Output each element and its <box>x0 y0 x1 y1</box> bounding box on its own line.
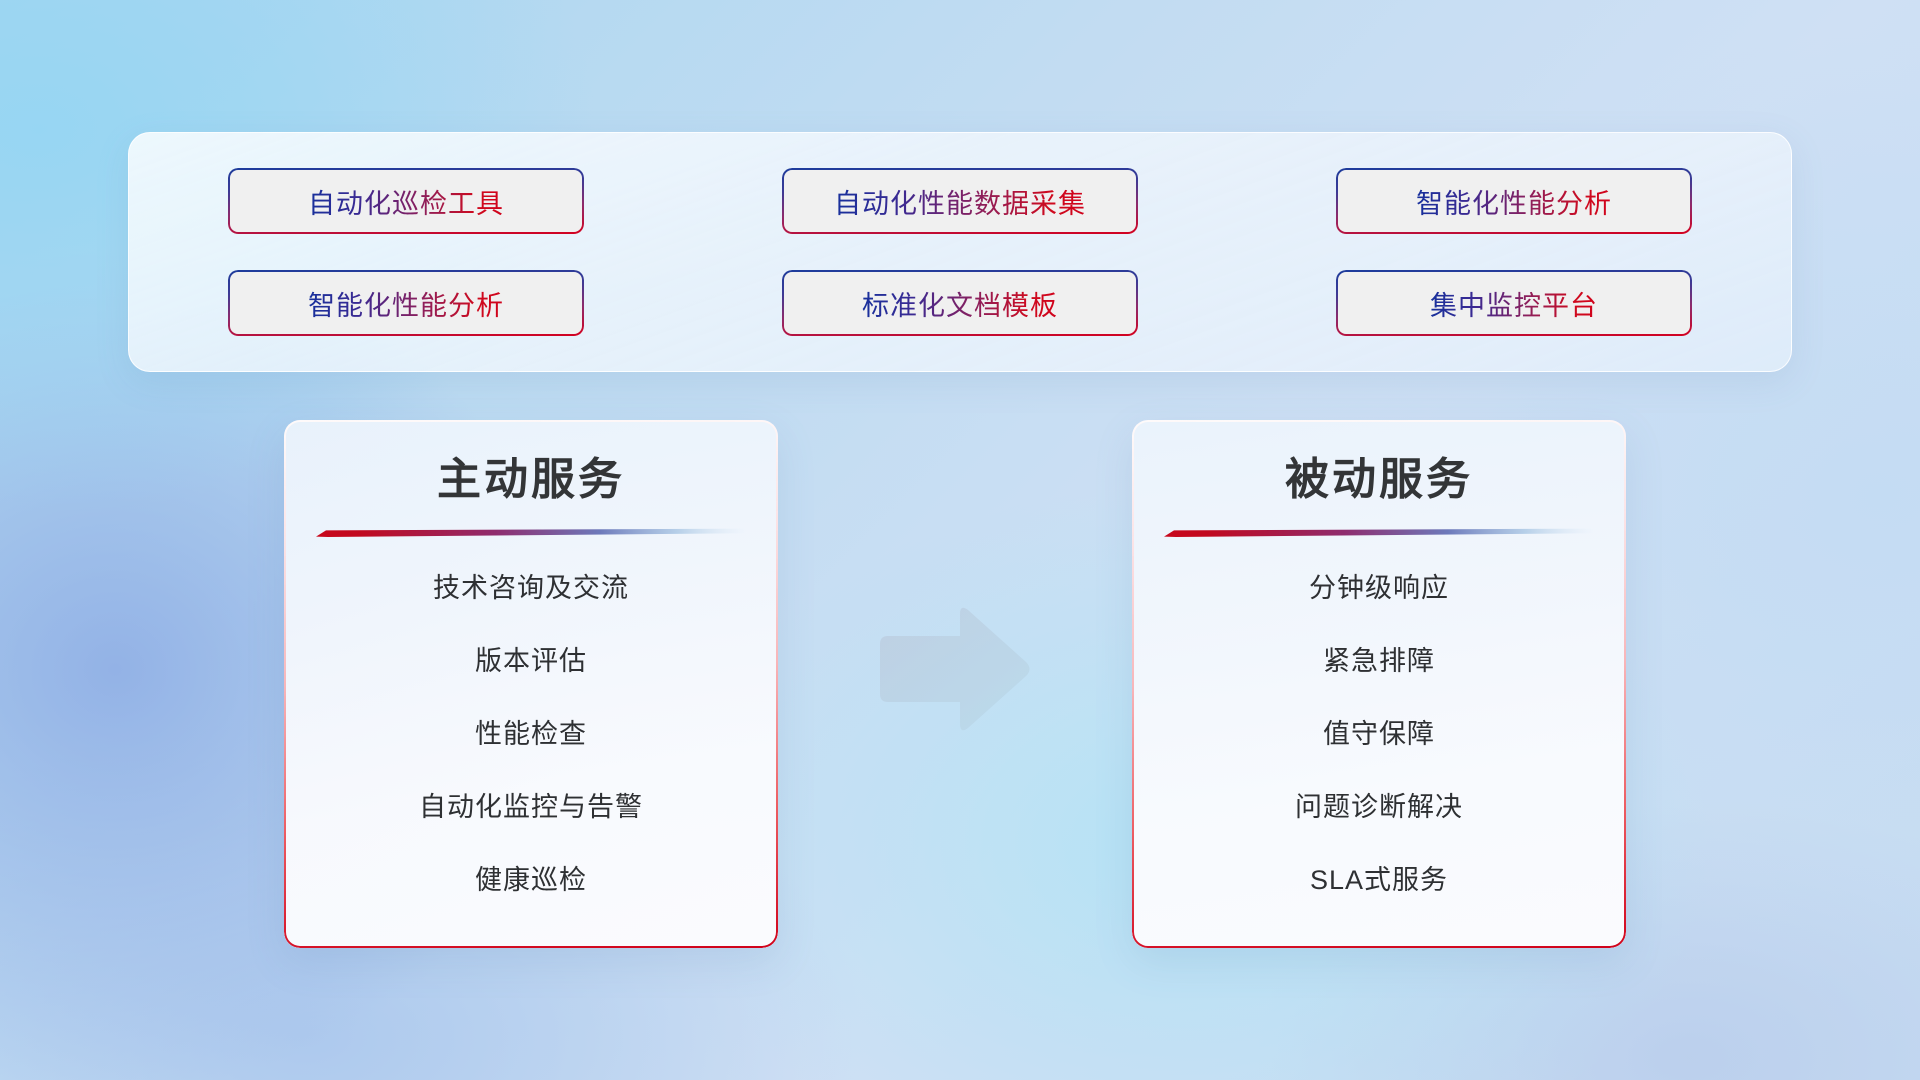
tag-slot: 智能化性能分析 <box>1334 168 1694 234</box>
card-list-item: 技术咨询及交流 <box>433 573 629 603</box>
card-list-item: SLA式服务 <box>1310 865 1448 895</box>
card-body: 被动服务 <box>1132 420 1626 948</box>
card-list-item: 性能检查 <box>475 719 587 749</box>
card-list-item: 自动化监控与告警 <box>419 792 643 822</box>
tag-slot: 自动化巡检工具 <box>226 168 586 234</box>
capability-tag-label: 智能化性能分析 <box>308 284 504 323</box>
card-body: 主动服务 <box>284 420 778 948</box>
capability-tag[interactable]: 智能化性能分析 <box>228 270 584 336</box>
card-list-item: 问题诊断解决 <box>1295 792 1463 822</box>
card-list-item: 版本评估 <box>475 646 587 676</box>
slide-canvas: 自动化巡检工具 自动化性能数据采集 智能化性能分析 智能化性能分析 <box>0 0 1920 1080</box>
capability-tags-row-2: 智能化性能分析 标准化文档模板 集中监控平台 <box>129 263 1791 343</box>
card-list-item: 健康巡检 <box>475 865 587 895</box>
service-card-proactive[interactable]: 主动服务 <box>284 420 778 948</box>
capability-tag-label: 标准化文档模板 <box>862 284 1058 323</box>
capability-tags-row-1: 自动化巡检工具 自动化性能数据采集 智能化性能分析 <box>129 161 1791 241</box>
card-list-item: 分钟级响应 <box>1309 573 1449 603</box>
tag-slot: 集中监控平台 <box>1334 270 1694 336</box>
capability-tag[interactable]: 自动化巡检工具 <box>228 168 584 234</box>
card-item-list: 分钟级响应 紧急排障 值守保障 问题诊断解决 SLA式服务 <box>1132 573 1626 895</box>
capability-tag[interactable]: 标准化文档模板 <box>782 270 1138 336</box>
capability-tag-label: 自动化巡检工具 <box>308 182 504 221</box>
card-title: 被动服务 <box>1285 456 1473 504</box>
card-title: 主动服务 <box>437 456 625 504</box>
card-divider <box>316 528 746 537</box>
arrow-right-icon <box>874 600 1034 740</box>
capability-tag-label: 集中监控平台 <box>1430 284 1598 323</box>
card-list-item: 紧急排障 <box>1323 646 1435 676</box>
capability-tag[interactable]: 智能化性能分析 <box>1336 168 1692 234</box>
capability-tag-label: 自动化性能数据采集 <box>834 182 1086 221</box>
card-divider <box>1164 528 1594 537</box>
card-item-list: 技术咨询及交流 版本评估 性能检查 自动化监控与告警 健康巡检 <box>284 573 778 895</box>
capability-tag[interactable]: 集中监控平台 <box>1336 270 1692 336</box>
tag-slot: 自动化性能数据采集 <box>780 168 1140 234</box>
tag-slot: 智能化性能分析 <box>226 270 586 336</box>
capability-tag-label: 智能化性能分析 <box>1416 182 1612 221</box>
tag-slot: 标准化文档模板 <box>780 270 1140 336</box>
card-list-item: 值守保障 <box>1323 719 1435 749</box>
capability-tags-panel: 自动化巡检工具 自动化性能数据采集 智能化性能分析 智能化性能分析 <box>128 132 1792 372</box>
service-card-reactive[interactable]: 被动服务 <box>1132 420 1626 948</box>
capability-tag[interactable]: 自动化性能数据采集 <box>782 168 1138 234</box>
